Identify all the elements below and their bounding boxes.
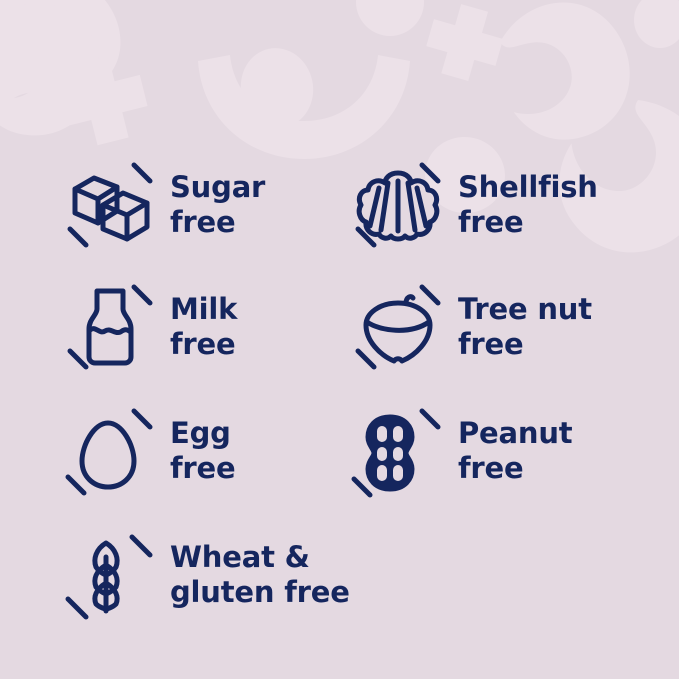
allergen-claims-panel: Sugar free Shellfish free xyxy=(0,0,679,679)
claim-label: Wheat & gluten free xyxy=(170,540,350,611)
claim-label: Egg free xyxy=(170,416,235,487)
peanut-icon xyxy=(350,403,446,499)
milk-bottle-icon xyxy=(62,279,158,375)
acorn-icon xyxy=(350,279,446,375)
scallop-shell-icon xyxy=(350,157,446,253)
claim-label: Peanut free xyxy=(458,416,572,487)
claim-milk-free: Milk free xyxy=(62,279,237,375)
egg-icon xyxy=(62,403,158,499)
claims-grid: Sugar free Shellfish free xyxy=(0,0,679,679)
claim-egg-free: Egg free xyxy=(62,403,235,499)
claim-label: Sugar free xyxy=(170,170,265,241)
sugar-cubes-icon xyxy=(62,157,158,253)
claim-label: Shellfish free xyxy=(458,170,598,241)
wheat-stalk-icon xyxy=(62,527,158,623)
claim-shellfish-free: Shellfish free xyxy=(350,157,598,253)
claim-label: Milk free xyxy=(170,292,237,363)
claim-sugar-free: Sugar free xyxy=(62,157,265,253)
claim-label: Tree nut free xyxy=(458,292,592,363)
claim-tree-nut-free: Tree nut free xyxy=(350,279,592,375)
claim-peanut-free: Peanut free xyxy=(350,403,572,499)
claim-wheat-gluten-free: Wheat & gluten free xyxy=(62,527,350,623)
